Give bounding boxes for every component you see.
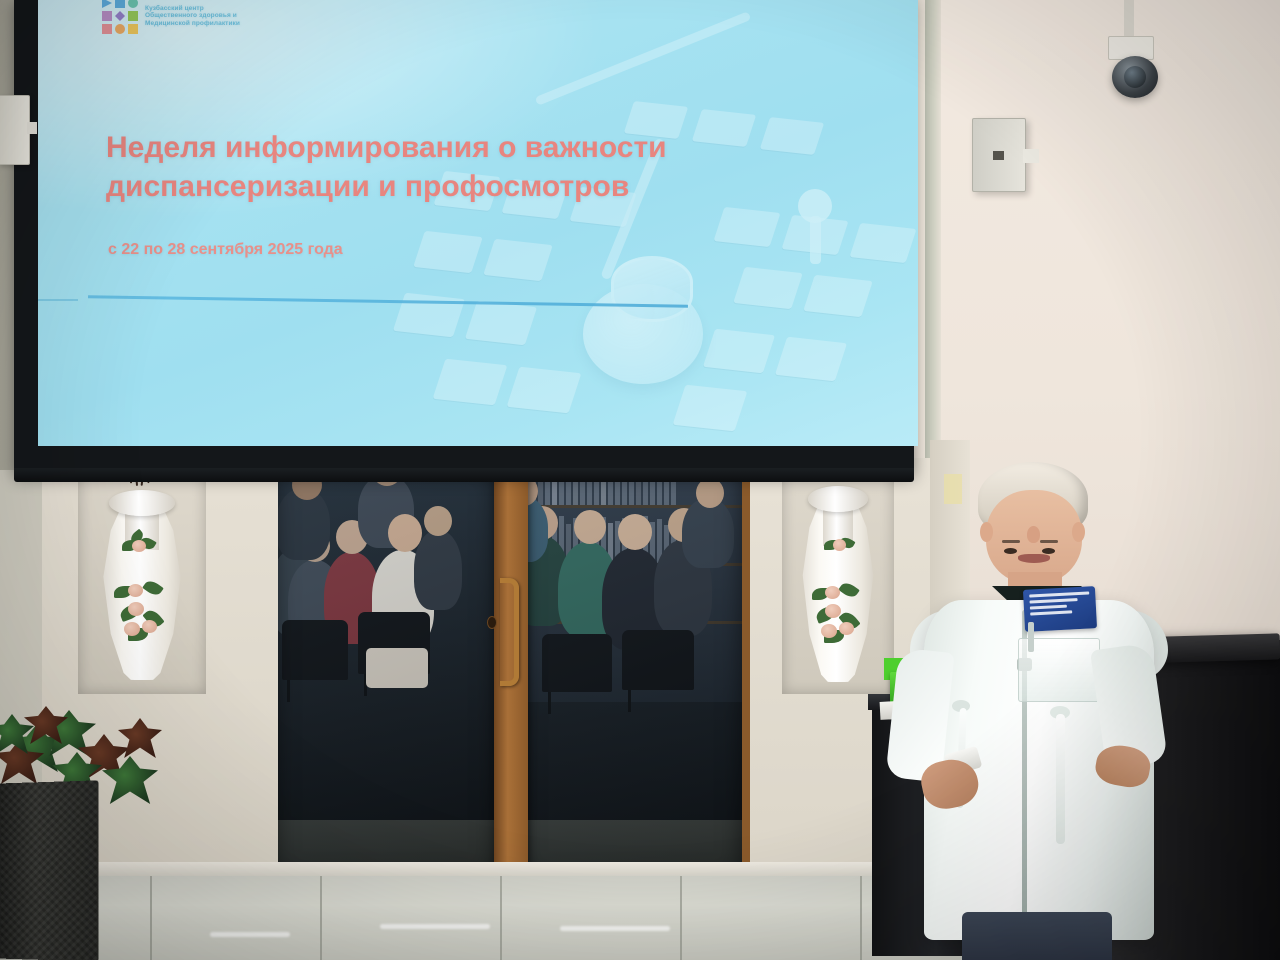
slide-subtitle: с 22 по 28 сентября 2025 года [108, 241, 343, 259]
planter-pot [0, 780, 99, 960]
logo-grid-icon [102, 0, 138, 34]
stethoscope-eartip-stem [810, 216, 821, 264]
vase-left [96, 480, 188, 680]
door-handle[interactable] [500, 578, 519, 686]
presenter-trousers [962, 912, 1112, 960]
logo-line-2: Общественного здоровья и [145, 12, 240, 20]
vase-lip [808, 486, 868, 512]
projection-screen-frame: Кузбасский центр Общественного здоровья … [14, 0, 914, 472]
door-lock-icon [487, 616, 497, 629]
camera-mount-stem [1124, 0, 1134, 40]
vase-floral-motif [122, 532, 156, 562]
presenter-nose [1027, 526, 1040, 543]
stethoscope-diaphragm [611, 256, 693, 322]
vase-lip [109, 490, 175, 516]
vase-right [796, 476, 880, 682]
vase-floral-motif [824, 532, 856, 560]
presenter-mouth [1018, 554, 1050, 563]
projection-screen: Кузбасский центр Общественного здоровья … [38, 0, 918, 446]
presenter [900, 460, 1200, 960]
logo-line-3: Медицинской профилактики [145, 20, 240, 28]
camera-lens-icon [1124, 66, 1146, 88]
slide-background-image-keyboard [378, 0, 918, 446]
speaker-grille-icon [993, 151, 1004, 160]
wall-speaker-right [972, 118, 1026, 192]
presentation-room-photo: Кузбасский центр Общественного здоровья … [0, 0, 1280, 960]
slide-divider-stub [38, 299, 78, 301]
slide-logo: Кузбасский центр Общественного здоровья … [102, 0, 240, 34]
glass-door-left[interactable] [262, 452, 508, 892]
stethoscope-tube [535, 11, 752, 106]
glass-door-right[interactable] [508, 452, 754, 892]
vase-floral-motif [812, 576, 864, 644]
coat-tie-right [1056, 714, 1065, 844]
name-badge [1023, 586, 1097, 632]
logo-text: Кузбасский центр Общественного здоровья … [145, 5, 240, 28]
wall-speaker-left [0, 95, 30, 165]
pen-in-pocket [1028, 622, 1034, 652]
vase-floral-motif [114, 576, 168, 642]
slide-title: Неделя информирования о важности диспанс… [106, 128, 806, 206]
